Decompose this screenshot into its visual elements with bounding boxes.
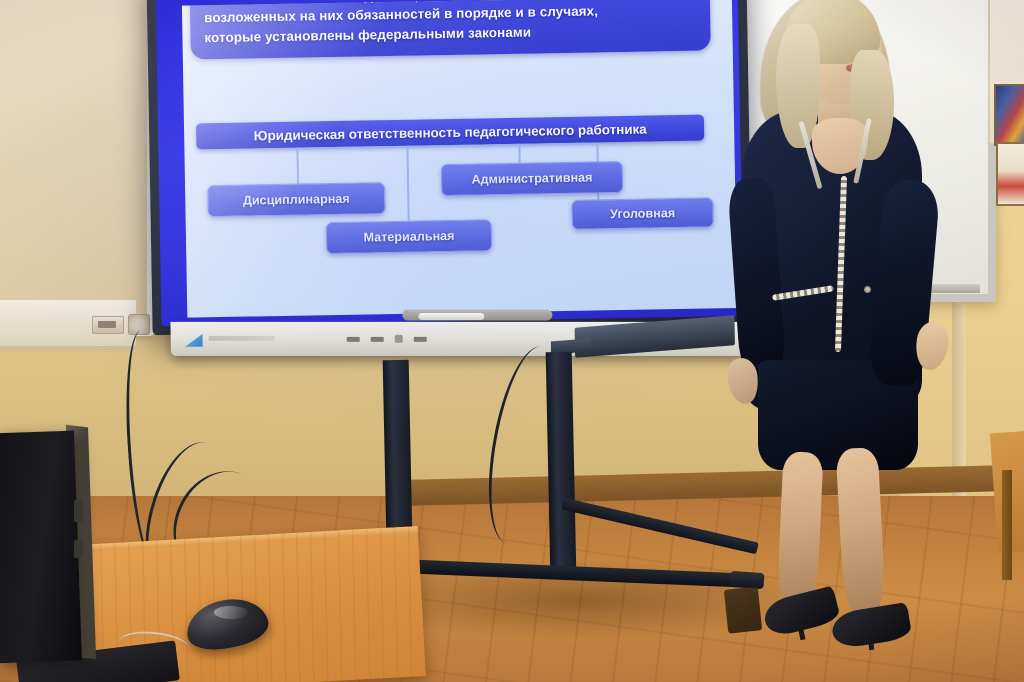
diagram-branch-disciplinary: Дисциплинарная <box>207 182 386 217</box>
display-button-group[interactable] <box>347 335 427 343</box>
wall-poster-lower <box>996 142 1024 206</box>
side-table-leg <box>1002 470 1012 580</box>
display-bezel: Педагогические работники несут ответстве… <box>146 0 752 335</box>
right-shoe <box>830 602 913 650</box>
branch-label-criminal: Уголовная <box>610 206 675 221</box>
left-shoe <box>761 586 842 639</box>
screen-glow-border: Педагогические работники несут ответстве… <box>156 0 744 326</box>
wall-panel <box>0 0 154 336</box>
volume-button-icon[interactable] <box>414 336 427 341</box>
diagram-branch-administrative: Административная <box>441 161 624 196</box>
speaker-control-upper[interactable] <box>74 500 83 522</box>
diagram-branch-criminal: Уголовная <box>571 197 714 229</box>
speaker-tower <box>0 431 82 664</box>
branch-label-administrative: Административная <box>471 171 592 187</box>
mouse-highlight <box>214 606 248 620</box>
menu-button-icon[interactable] <box>371 336 384 341</box>
brand-wordmark <box>209 336 275 341</box>
slide-paragraph-box: Педагогические работники несут ответстве… <box>189 0 711 60</box>
diagram-branch-material: Материальная <box>326 219 493 254</box>
diagram-connector-1 <box>296 148 298 184</box>
classroom-photo: Педагогические работники несут ответстве… <box>0 0 1024 682</box>
diagram-root-label: Юридическая ответственность педагогическ… <box>254 121 647 143</box>
presentation-slide[interactable]: Педагогические работники несут ответстве… <box>182 0 737 318</box>
branch-label-material: Материальная <box>363 229 454 245</box>
right-leg <box>836 447 887 617</box>
branch-label-disciplinary: Дисциплинарная <box>243 192 350 208</box>
diagram-connector-3 <box>518 144 520 163</box>
jacket-button <box>864 286 871 293</box>
source-button-icon[interactable] <box>395 335 403 343</box>
power-outlet <box>92 316 124 334</box>
interactive-display[interactable]: Педагогические работники несут ответстве… <box>146 0 753 395</box>
power-button-icon[interactable] <box>347 336 360 341</box>
diagram-connector-2 <box>406 146 409 221</box>
speaker-control-lower[interactable] <box>74 540 83 558</box>
stylus-pen[interactable] <box>418 313 484 320</box>
brand-leaf-icon <box>185 334 203 347</box>
presenter <box>700 0 1000 682</box>
